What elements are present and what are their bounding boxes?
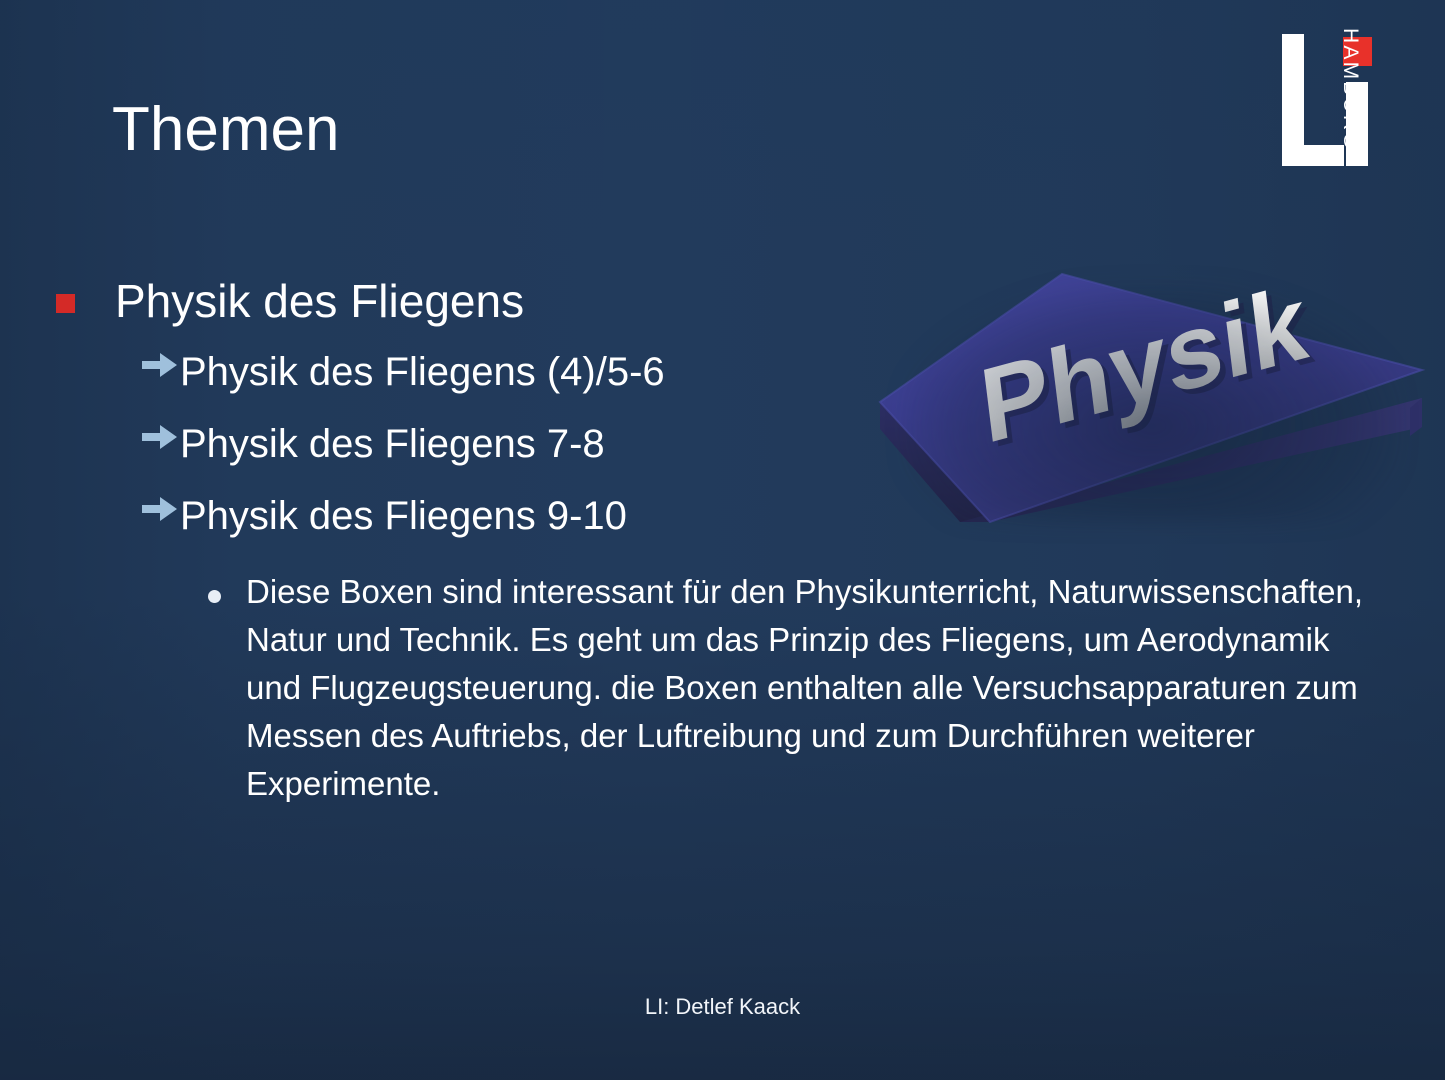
bullet-level2-item-2: Physik des Fliegens 7-8: [140, 410, 1386, 478]
slide-footer: LI: Detlef Kaack: [0, 994, 1445, 1020]
arrow-right-bullet-icon: [140, 494, 180, 524]
bullet-level2-label-3: Physik des Fliegens 9-10: [180, 482, 627, 550]
round-dot-bullet-icon: [208, 590, 221, 603]
bullet-level2-item-1: Physik des Fliegens (4)/5-6: [140, 338, 1386, 406]
slide-body: Physik des Fliegens Physik des Fliegens …: [56, 272, 1386, 808]
bullet-level3-label: Diese Boxen sind interessant für den Phy…: [246, 568, 1386, 808]
li-hamburg-logo: HAMBURG: [1274, 26, 1424, 174]
page-title: Themen: [112, 94, 339, 165]
arrow-right-bullet-icon: [140, 422, 180, 452]
bullet-level2-item-3: Physik des Fliegens 9-10: [140, 482, 1386, 550]
logo-letter-l-icon: [1282, 34, 1344, 166]
bullet-level1: Physik des Fliegens: [56, 272, 1386, 330]
bullet-level2-label-1: Physik des Fliegens (4)/5-6: [180, 338, 665, 406]
red-square-bullet-icon: [56, 294, 75, 313]
presentation-slide: HAMBURG Themen: [0, 0, 1445, 1080]
logo-wordmark: HAMBURG: [1336, 28, 1362, 168]
bullet-level1-label: Physik des Fliegens: [115, 272, 524, 330]
arrow-right-bullet-icon: [140, 350, 180, 380]
bullet-level2-label-2: Physik des Fliegens 7-8: [180, 410, 605, 478]
bullet-level3-item: Diese Boxen sind interessant für den Phy…: [208, 568, 1386, 808]
